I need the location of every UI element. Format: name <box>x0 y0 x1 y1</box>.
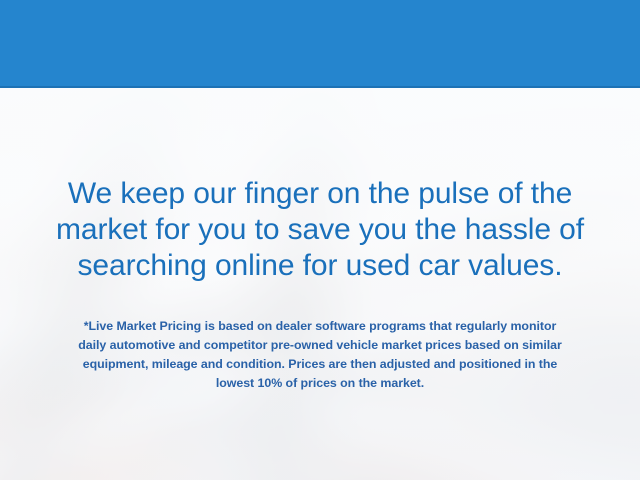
headline: We keep our finger on the pulse of the m… <box>22 176 618 284</box>
disclaimer-line-3: equipment, mileage and condition. Prices… <box>26 355 614 374</box>
headline-line-2: market for you to save you the hassle of <box>22 212 618 248</box>
headline-line-1: We keep our finger on the pulse of the <box>22 176 618 212</box>
header-bar <box>0 0 640 88</box>
disclaimer-line-2: daily automotive and competitor pre-owne… <box>26 336 614 355</box>
disclaimer-line-1: *Live Market Pricing is based on dealer … <box>26 317 614 336</box>
live-market-pricing-banner: Live Market Pricing* We keep our finger … <box>0 0 640 480</box>
disclaimer: *Live Market Pricing is based on dealer … <box>26 317 614 393</box>
disclaimer-line-4: lowest 10% of prices on the market. <box>26 374 614 393</box>
photo-cool-tint <box>0 88 640 480</box>
background-photo <box>0 88 640 480</box>
headline-line-3: searching online for used car values. <box>22 248 618 284</box>
